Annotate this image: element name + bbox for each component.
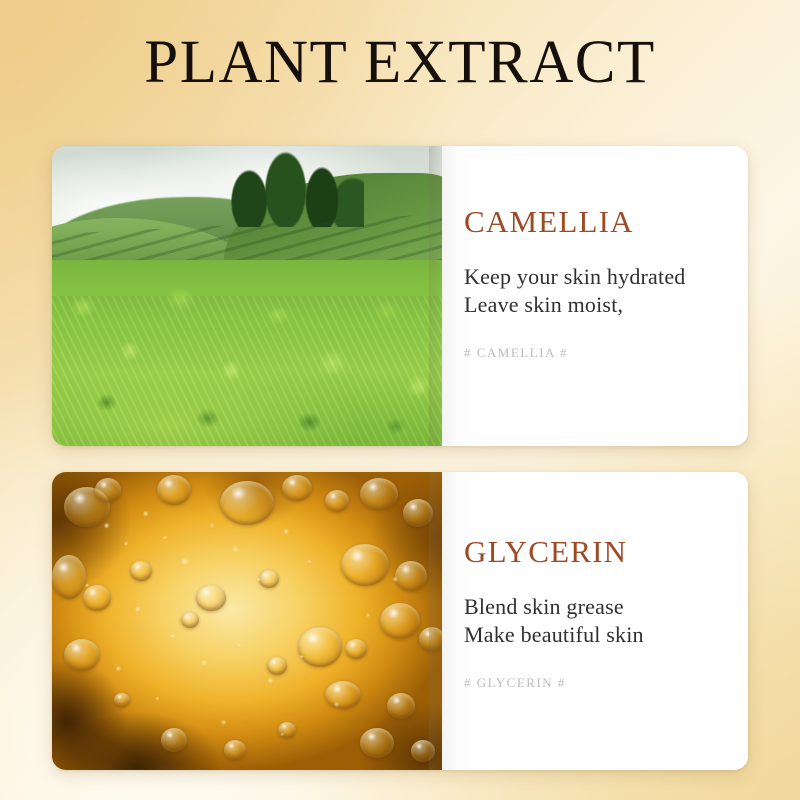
ingredient-heading-glycerin: GLYCERIN <box>464 536 748 567</box>
ingredient-card-glycerin[interactable]: GLYCERIN Blend skin grease Make beautifu… <box>52 472 748 770</box>
benefit-line-1-glycerin: Blend skin grease <box>464 593 748 621</box>
tea-leaf-texture-layer <box>52 296 442 446</box>
camellia-text-panel: CAMELLIA Keep your skin hydrated Leave s… <box>442 146 748 446</box>
ingredient-card-camellia[interactable]: CAMELLIA Keep your skin hydrated Leave s… <box>52 146 748 446</box>
golden-oil-bubbles-photo <box>52 472 442 770</box>
benefit-line-2-glycerin: Make beautiful skin <box>464 621 748 649</box>
glycerin-text-panel: GLYCERIN Blend skin grease Make beautifu… <box>442 472 748 770</box>
glycerin-image <box>52 472 442 770</box>
page-title: PLANT EXTRACT <box>144 32 655 93</box>
tea-plantation-photo <box>52 146 442 446</box>
tag-glycerin: # GLYCERIN # <box>464 675 748 691</box>
benefit-line-1-camellia: Keep your skin hydrated <box>464 263 748 291</box>
poster-title-container: PLANT EXTRACT <box>0 32 800 93</box>
plant-extract-poster: PLANT EXTRACT CAMELLIA Keep your skin hy… <box>0 0 800 800</box>
benefit-line-2-camellia: Leave skin moist, <box>464 291 748 319</box>
camellia-image <box>52 146 442 446</box>
ingredient-heading-camellia: CAMELLIA <box>464 206 748 237</box>
micro-bubbles-layer <box>52 472 442 770</box>
tree-cluster-layer <box>224 146 364 227</box>
tag-camellia: # CAMELLIA # <box>464 345 748 361</box>
